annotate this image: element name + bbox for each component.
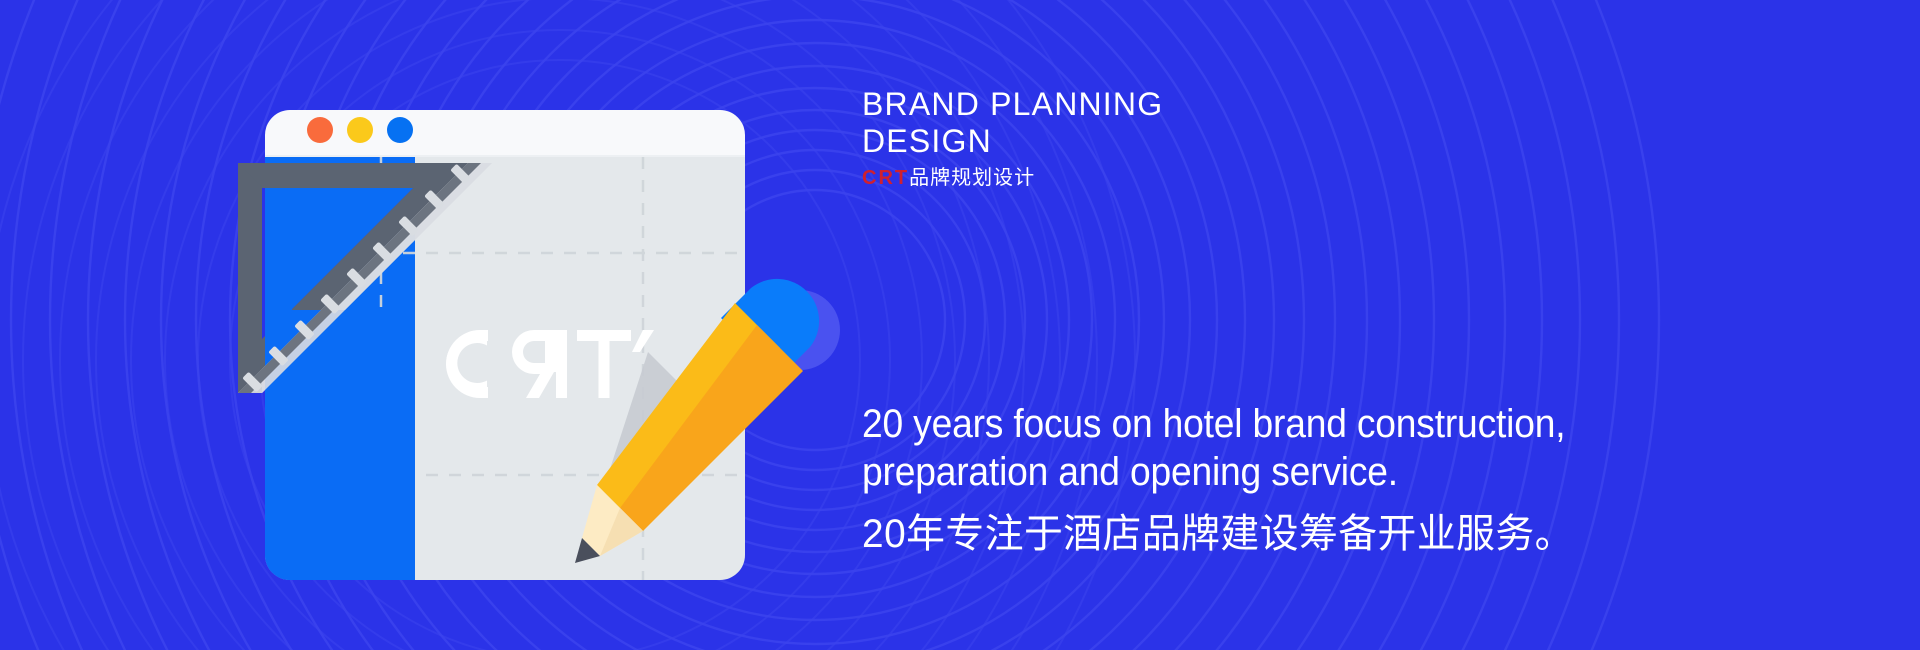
- headline-block: 20 years focus on hotel brand constructi…: [862, 400, 1862, 560]
- hero-illustration: [0, 0, 900, 650]
- brand-banner: BRAND PLANNING DESIGN CRT品牌规划设计 20 years…: [0, 0, 1920, 650]
- eyebrow-crt-mark: CRT: [862, 167, 909, 189]
- close-dot: [307, 117, 333, 143]
- eyebrow-line-2: DESIGN: [862, 123, 1562, 160]
- headline-en-line-2: preparation and opening service.: [862, 448, 1792, 496]
- eyebrow-block: BRAND PLANNING DESIGN CRT品牌规划设计: [862, 86, 1562, 191]
- eyebrow-chinese-text: 品牌规划设计: [909, 167, 1035, 189]
- eyebrow-chinese: CRT品牌规划设计: [862, 165, 1562, 191]
- window-controls: [307, 117, 413, 143]
- maximize-dot: [387, 117, 413, 143]
- headline-en-line-1: 20 years focus on hotel brand constructi…: [862, 400, 1792, 448]
- minimize-dot: [347, 117, 373, 143]
- eyebrow-line-1: BRAND PLANNING: [862, 86, 1562, 123]
- headline-chinese: 20年专注于酒店品牌建设筹备开业服务。: [862, 508, 1832, 560]
